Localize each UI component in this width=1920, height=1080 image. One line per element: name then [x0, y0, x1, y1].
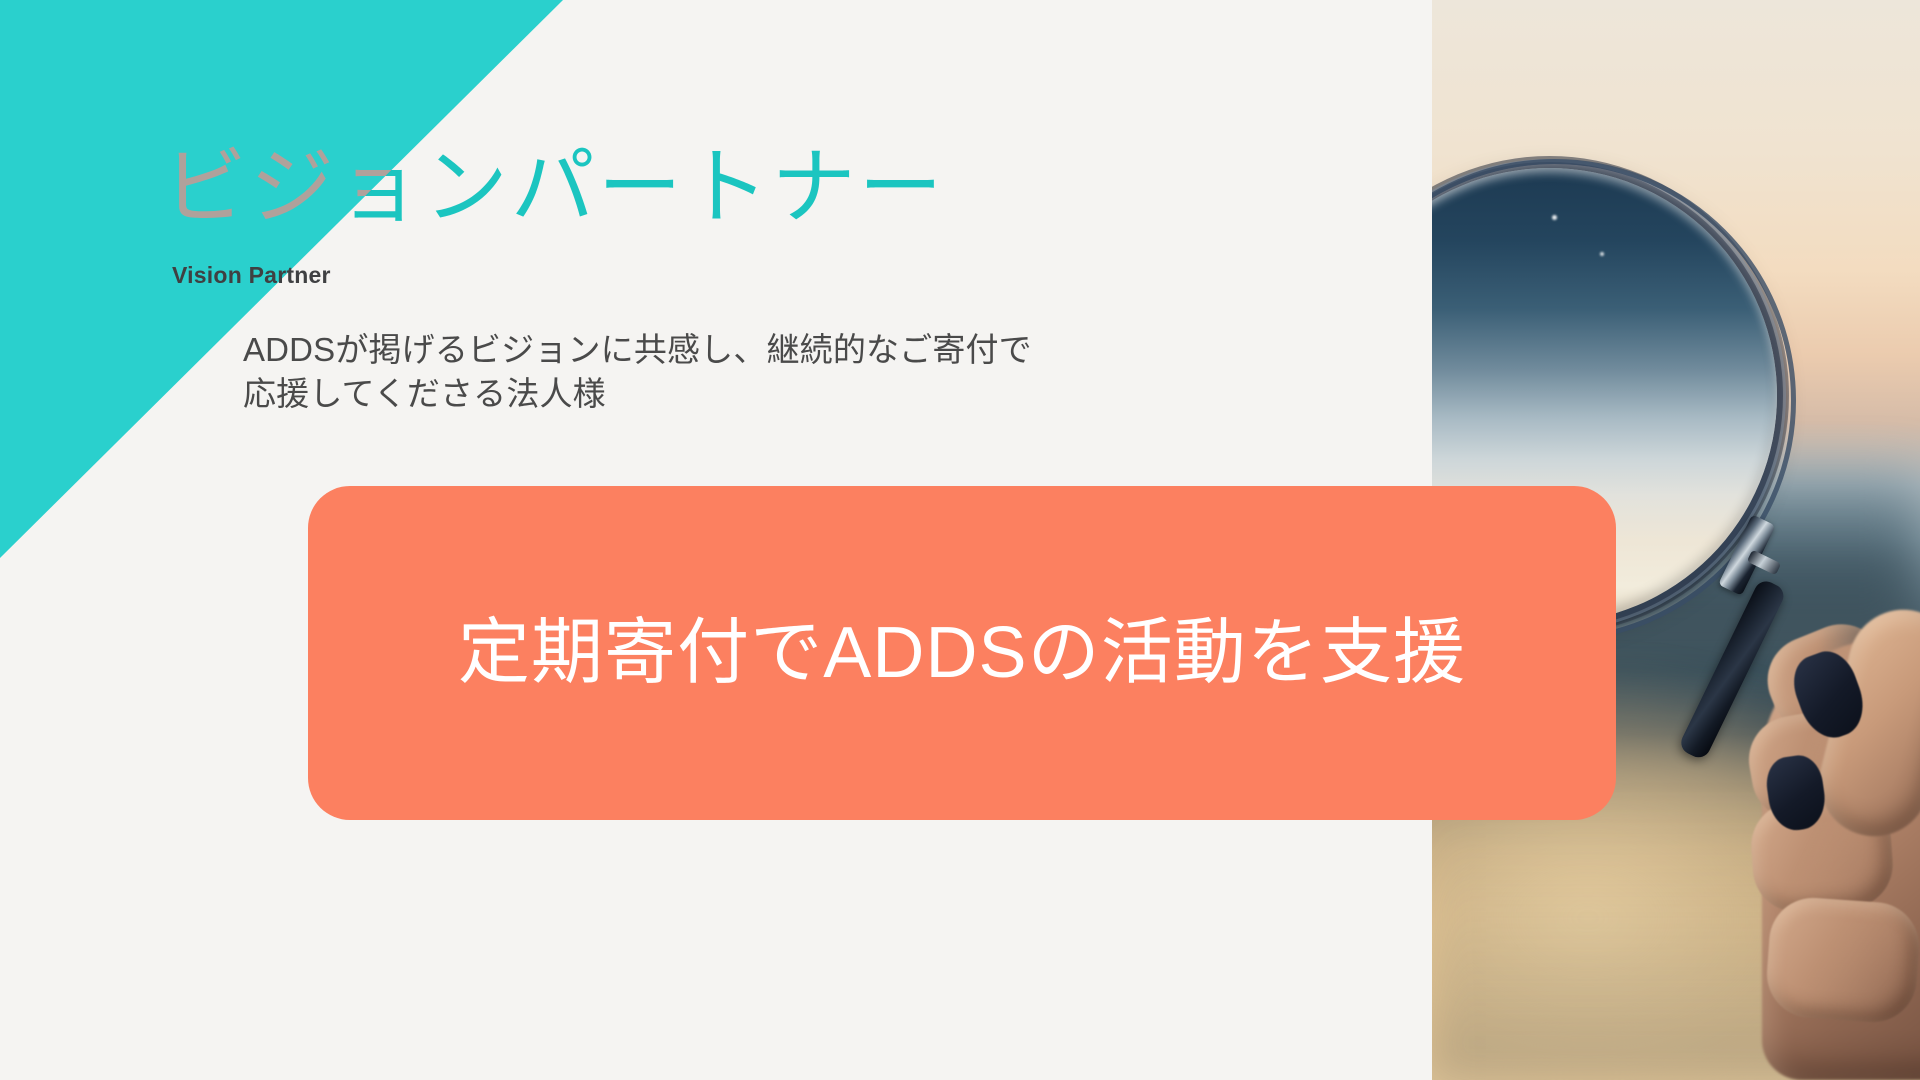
lens-specular-dot	[1552, 215, 1557, 220]
page-subtitle-english: Vision Partner	[172, 262, 331, 289]
description-line-2: 応援してくださる法人様	[243, 372, 1253, 416]
slide-canvas: ビジョンパートナー Vision Partner ADDSが掲げるビジョンに共感…	[0, 0, 1920, 1080]
lens-specular-dot-secondary	[1600, 252, 1604, 256]
description-line-1: ADDSが掲げるビジョンに共感し、継続的なご寄付で	[243, 328, 1253, 372]
donate-cta-button[interactable]: 定期寄付でADDSの活動を支援	[308, 486, 1616, 820]
hand-finger	[1764, 895, 1920, 1025]
description-text: ADDSが掲げるビジョンに共感し、継続的なご寄付で 応援してくださる法人様	[243, 328, 1253, 416]
donate-cta-label: 定期寄付でADDSの活動を支援	[458, 617, 1466, 689]
